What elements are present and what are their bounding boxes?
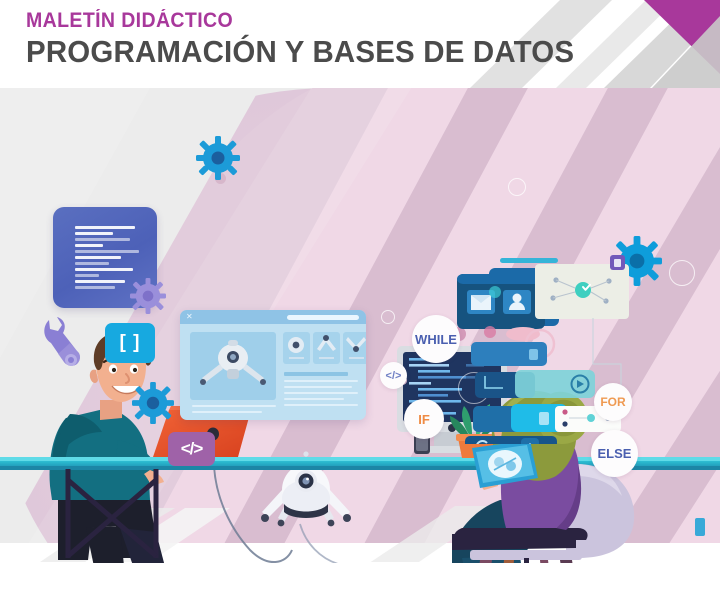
keyword-else-label: ELSE: [598, 446, 632, 461]
browser-titlebar: ✕: [180, 310, 366, 324]
close-icon[interactable]: ✕: [186, 313, 193, 321]
browser-text-line: [284, 392, 358, 394]
robot-thumb-1[interactable]: [283, 332, 310, 364]
wrench-icon: [40, 316, 84, 382]
browser-text-line: [284, 398, 344, 400]
browser-text-line: [192, 411, 262, 413]
keyword-while: WHILE: [412, 315, 460, 363]
brackets-badge-label: [ ]: [120, 332, 141, 354]
gear-icon-top-left: [196, 136, 240, 180]
illustration: [ ] </>: [0, 88, 720, 589]
browser-text-line: [284, 404, 358, 406]
floor-strip: [0, 563, 720, 589]
keyword-else: ELSE: [591, 430, 638, 477]
poster-title: PROGRAMACIÓN Y BASES DE DATOS: [26, 34, 574, 70]
keyword-if-label: IF: [418, 412, 430, 427]
keyword-if: IF: [404, 399, 444, 439]
robot-thumb-3[interactable]: [343, 332, 366, 364]
poster: MALETÍN DIDÁCTICO PROGRAMACIÓN Y BASES D…: [0, 0, 720, 589]
gear-icon-bottom-left: [132, 382, 174, 424]
code-slash-badge: </>: [168, 432, 215, 466]
keyword-for-label: FOR: [600, 395, 625, 409]
decor-circle-3: [381, 310, 395, 324]
poster-eyebrow: MALETÍN DIDÁCTICO: [26, 8, 563, 33]
side-tab: [695, 518, 705, 536]
decor-circle-2: [508, 178, 526, 196]
keyword-code-slash: </>: [380, 362, 407, 389]
browser-text-line: [284, 386, 352, 388]
decor-circle-1: [669, 260, 695, 286]
browser-heading-line: [284, 372, 348, 376]
keyword-code-slash-label: </>: [386, 370, 402, 382]
keyword-while-label: WHILE: [415, 332, 457, 347]
browser-text-line: [284, 380, 358, 382]
brackets-badge: [ ]: [105, 323, 155, 363]
header-text-block: MALETÍN DIDÁCTICO PROGRAMACIÓN Y BASES D…: [26, 8, 603, 70]
keyword-for: FOR: [594, 383, 632, 421]
gear-icon-mid-left: [130, 278, 166, 314]
robot-hero-image: [190, 332, 276, 400]
header: MALETÍN DIDÁCTICO PROGRAMACIÓN Y BASES D…: [0, 0, 720, 88]
robot-thumb-2[interactable]: [313, 332, 340, 364]
browser-text-line: [192, 405, 276, 407]
browser-window[interactable]: ✕: [180, 310, 366, 420]
code-slash-badge-label: </>: [181, 439, 203, 459]
browser-url-bar[interactable]: [287, 315, 359, 320]
